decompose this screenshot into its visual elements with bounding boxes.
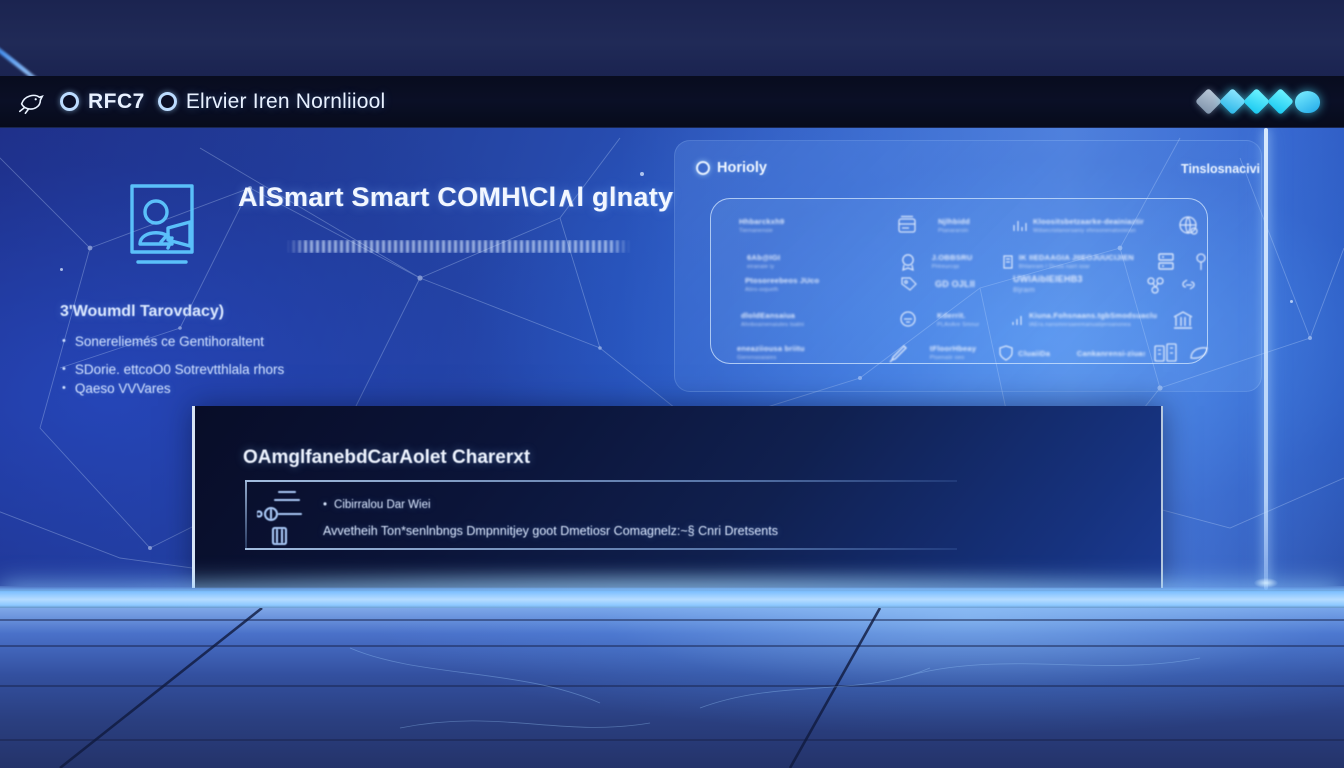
bullet-icon: • [62, 336, 66, 347]
table-row[interactable]: dloldEansaiua Ahnboainenaiutes tsatni Kd… [711, 303, 1209, 337]
table-row[interactable]: Hhbarckxh9 Tiernanensie Njlhbidd Ptanara… [711, 211, 1209, 241]
badge-round-icon [898, 252, 918, 272]
row-name-sub: Tiernanensie [739, 227, 854, 235]
status-dot-icon[interactable] [1195, 88, 1222, 115]
feature-label: Qaeso VVVares [75, 381, 171, 396]
panel-tag-label: Tinslosnacivi [1181, 162, 1260, 176]
row-desc: CluaiiDa [1018, 348, 1071, 359]
row-name: dloldEansaiua [741, 310, 863, 321]
globe-network-icon [1177, 214, 1201, 238]
feature-label: SDorie. ettcoO0 Sotrevtthlala rhors [75, 362, 284, 377]
row-desc-sub: 8Ijraim [1013, 286, 1139, 296]
sparkle-icon [640, 172, 644, 176]
row-desc-sub: Cankanrensi-ziuasil [1077, 348, 1145, 359]
alert-list-label: Cibirralou Dar Wiei [334, 499, 431, 511]
contract-alert-panel: OAmglfanebdCarAolet Charerxt • Cibirralo… [192, 406, 1163, 588]
row-desc: IK IIEDAAGIA JIIEOJUUCIJIEN [1019, 252, 1143, 263]
page-subtitle-blurred [286, 240, 631, 253]
cloud-blob-icon[interactable] [1295, 91, 1320, 113]
sparkle-icon [1290, 300, 1293, 303]
circle-outline-icon [60, 92, 79, 111]
card-stack-icon [896, 215, 918, 237]
divider [245, 480, 957, 482]
table-row[interactable]: eneaziiousa briitu Gienrnsoaiaies tFloor… [711, 339, 1209, 367]
divider [245, 548, 957, 550]
features-heading: 3'Woumdl Tarovdacy) [60, 303, 224, 321]
row-name: eneaziiousa briitu [737, 343, 862, 354]
row-name-sub: Ahnboainenaiutes tsatni [741, 321, 863, 329]
circle-badge-icon [696, 161, 710, 175]
feature-list-item: • Qaeso VVVares [62, 381, 171, 396]
panel-brand: Horioly [696, 160, 767, 176]
diamond-icon-3[interactable] [1267, 88, 1294, 115]
server-rack-icon [1155, 252, 1177, 272]
tag-icon [899, 275, 919, 295]
link-icon [1179, 276, 1199, 294]
feature-list-item: • SDorie. ettcoO0 Sotrevtthlala rhors [62, 362, 284, 377]
row-value: tFloorHbeay [930, 343, 992, 354]
row-desc-sub: Wdsecristanorsaniy ehnsonenatooieian [1033, 227, 1163, 235]
row-name-sub: Atiro-oojuelh [745, 286, 863, 294]
chart-small-icon [1012, 218, 1028, 234]
row-desc: UWlAibIEIEHB3 [1013, 273, 1139, 286]
floor-perspective-lines [0, 608, 1344, 768]
analytics-table-card: Hhbarckxh9 Tiernanensie Njlhbidd Ptanara… [710, 198, 1208, 364]
row-value: Njlhbidd [938, 216, 1010, 227]
bank-icon [1171, 309, 1195, 331]
diamond-icon-2[interactable] [1243, 88, 1270, 115]
toggle-and-list-icons[interactable] [257, 486, 317, 546]
app-screen: RFC7 Elrvier Iren Nornliiool AlSmart Sma… [0, 0, 1344, 768]
page-title: AlSmart Smart COMH\Cl∧l glnaty [238, 182, 668, 213]
cluster-icon [1145, 275, 1167, 295]
signal-icon [1011, 313, 1025, 327]
vertical-rule [245, 482, 247, 548]
row-value: Kderrit. [937, 310, 1011, 321]
alert-description: Avvetheih Ton*senlnbngs Dmpnnitjey goot … [323, 524, 778, 538]
row-name-sub: Gienrnsoaiaies [737, 354, 862, 362]
background-top-band [0, 0, 1344, 78]
top-navigation-bar: RFC7 Elrvier Iren Nornliiool [0, 76, 1344, 128]
row-value: GD OJLII [935, 278, 1005, 291]
topbar-status-icons [1199, 91, 1328, 113]
row-desc: Kiuna.Fohsnaans.tgbSmodsuaclu [1029, 310, 1157, 321]
circle-outline-icon-2 [158, 92, 177, 111]
panel-brand-label: Horioly [717, 160, 767, 176]
row-name: 6Ab@IGI [747, 252, 854, 263]
table-row[interactable]: Ptosoreebeos JUco Atiro-oojuelh GD OJLII… [711, 271, 1209, 299]
bird-logo-icon[interactable] [16, 87, 46, 117]
id-card-person-icon [118, 176, 206, 272]
row-desc: Kloositsbetzaarke-deainiaztir [1033, 216, 1163, 227]
row-name: Ptosoreebeos JUco [745, 275, 863, 286]
panel-title: OAmglfanebdCarAolet Charerxt [243, 447, 530, 469]
pin-icon [1193, 252, 1209, 272]
feature-label: Sonereliemés ce Gentihoraltent [75, 334, 264, 349]
row-value-sub: Ptanararoin [938, 227, 1010, 235]
row-desc-sub: lAEra.nansmnrsaeemanuaiijeroanonea [1029, 321, 1157, 329]
diamond-icon-1[interactable] [1219, 88, 1246, 115]
building-icon [1153, 342, 1179, 364]
sparkle-icon [60, 268, 63, 271]
topbar-subtitle: Elrvier Iren Nornliiool [186, 90, 386, 114]
leaf-icon [1189, 345, 1209, 361]
shield-icon [998, 344, 1014, 362]
row-value: J.OBBSRU [932, 252, 997, 263]
note-icon [1001, 254, 1015, 270]
row-name: Hhbarckxh9 [739, 216, 854, 227]
bullet-icon: • [62, 383, 66, 394]
pen-icon [888, 342, 910, 364]
chat-bubble-icon [897, 310, 919, 330]
feature-list-item: • Sonereliemés ce Gentihoraltent [62, 334, 264, 349]
bullet-icon: • [323, 499, 327, 511]
row-value-sub: Ptsenaiir oeo [930, 354, 992, 362]
light-pole-graphic [1264, 128, 1268, 590]
row-value-sub: PLAnAre Smnur [937, 321, 1011, 329]
brand-label: RFC7 [88, 90, 145, 114]
alert-list-item: • Cibirralou Dar Wiei [323, 499, 431, 511]
bullet-icon: • [62, 364, 66, 375]
